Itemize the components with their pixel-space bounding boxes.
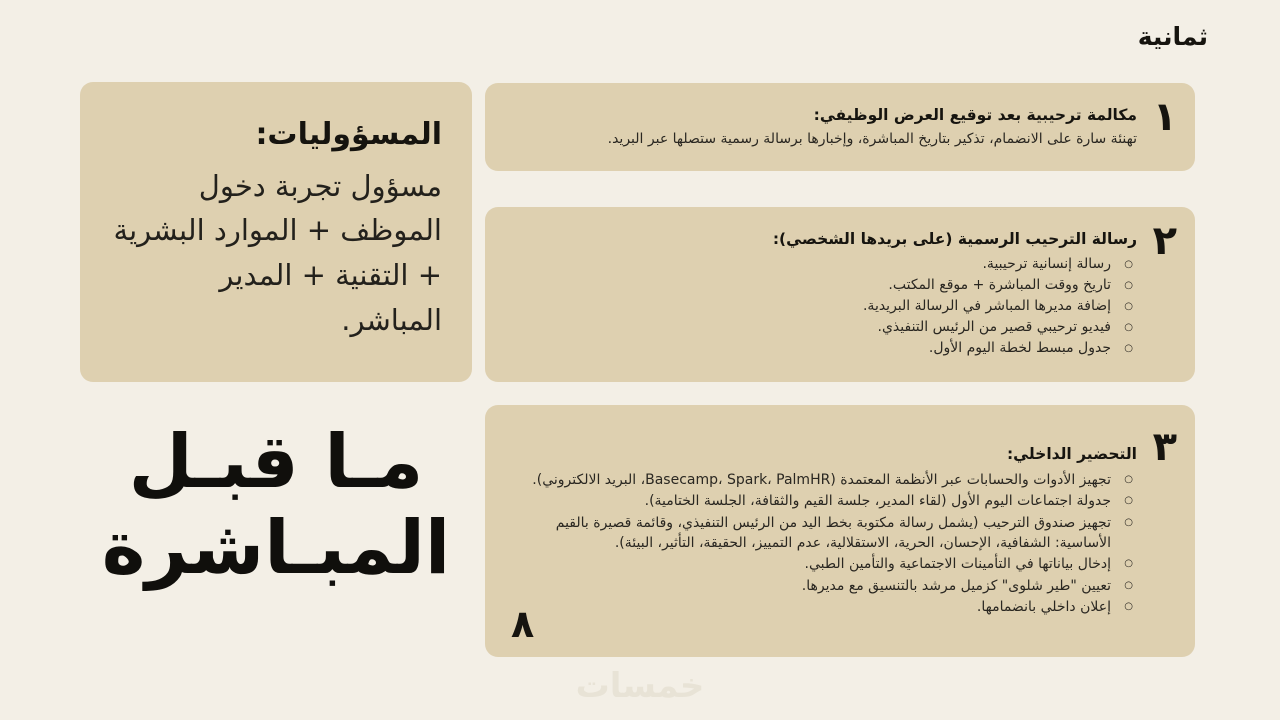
step-title-3: التحضير الداخلي: <box>511 444 1137 464</box>
page-title: مـا قبـل المبـاشرة <box>80 420 472 592</box>
step-bullet-list-2: رسالة إنسانية ترحيبية. تاريخ ووقت المباش… <box>511 255 1137 359</box>
list-item: تجهيز صندوق الترحيب (يشمل رسالة مكتوبة ب… <box>511 513 1137 554</box>
list-item: تاريخ ووقت المباشرة + موقع المكتب. <box>511 276 1137 296</box>
step-number-2: ٢ <box>1153 221 1177 261</box>
brand-title: ثمانية <box>1138 22 1208 51</box>
step-number-1: ١ <box>1153 97 1177 137</box>
page-title-line-1: مـا قبـل <box>80 420 472 506</box>
slide-root: ثمانية المسؤوليات: مسؤول تجربة دخول المو… <box>0 0 1280 720</box>
step-card-1: ١ مكالمة ترحيبية بعد توقيع العرض الوظيفي… <box>485 83 1195 171</box>
list-item: إدخال بياناتها في التأمينات الاجتماعية و… <box>511 554 1137 574</box>
step-title-2: رسالة الترحيب الرسمية (على بريدها الشخصي… <box>511 229 1137 249</box>
step-number-3: ٣ <box>1153 427 1177 467</box>
step-bullet-list-3: تجهيز الأدوات والحسابات عبر الأنظمة المع… <box>511 470 1137 618</box>
responsibilities-title: المسؤوليات: <box>110 116 442 154</box>
list-item: فيديو ترحيبي قصير من الرئيس التنفيذي. <box>511 318 1137 338</box>
step-title-1: مكالمة ترحيبية بعد توقيع العرض الوظيفي: <box>511 105 1137 125</box>
step-card-2: ٢ رسالة الترحيب الرسمية (على بريدها الشخ… <box>485 207 1195 382</box>
list-item: تجهيز الأدوات والحسابات عبر الأنظمة المع… <box>511 470 1137 490</box>
step-card-3: ٣ التحضير الداخلي: تجهيز الأدوات والحساب… <box>485 405 1195 657</box>
list-item: إضافة مديرها المباشر في الرسالة البريدية… <box>511 297 1137 317</box>
list-item: تعيين "طير شلوى" كزميل مرشد بالتنسيق مع … <box>511 576 1137 596</box>
list-item: إعلان داخلي بانضمامها. <box>511 597 1137 617</box>
responsibilities-body: مسؤول تجربة دخول الموظف + الموارد البشري… <box>110 164 442 344</box>
responsibilities-card: المسؤوليات: مسؤول تجربة دخول الموظف + ال… <box>80 82 472 382</box>
list-item: رسالة إنسانية ترحيبية. <box>511 255 1137 275</box>
list-item: جدول مبسط لخطة اليوم الأول. <box>511 339 1137 359</box>
watermark-logo: خمسات <box>0 666 1280 706</box>
page-title-line-2: المبـاشرة <box>80 506 472 592</box>
slide-number: ٨ <box>511 605 534 643</box>
step-description-1: تهنئة سارة على الانضمام، تذكير بتاريخ ال… <box>511 129 1137 149</box>
list-item: جدولة اجتماعات اليوم الأول (لقاء المدير،… <box>511 491 1137 511</box>
